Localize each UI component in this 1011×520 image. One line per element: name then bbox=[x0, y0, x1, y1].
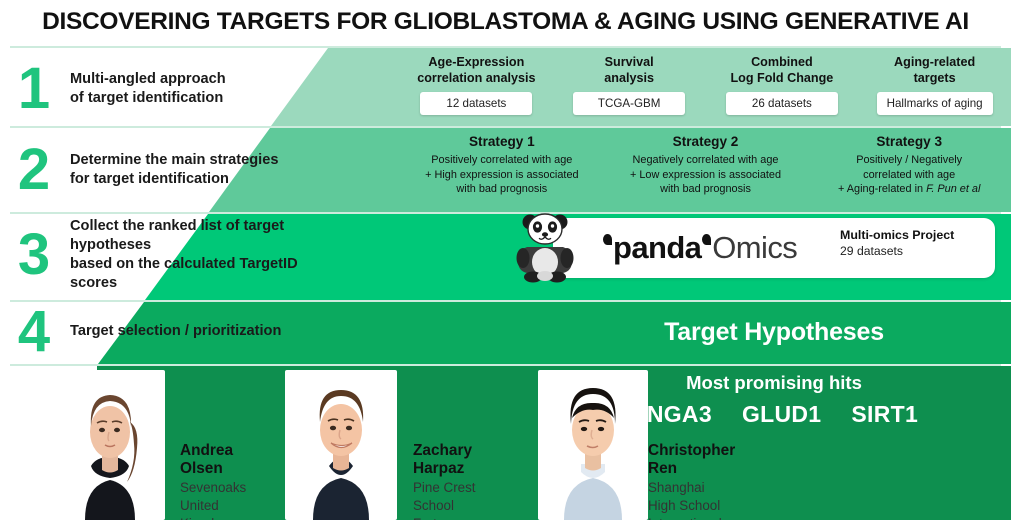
row-divider bbox=[10, 46, 1001, 48]
person-info: Andrea Olsen Sevenoaks United Kingdom bbox=[180, 442, 246, 520]
step-text-line-1: Collect the ranked list of target hypoth… bbox=[70, 217, 340, 256]
strategy-title: Strategy 3 bbox=[876, 134, 942, 149]
panda-icon bbox=[506, 206, 584, 284]
strategy-line-2: + Low expression is associated bbox=[630, 168, 781, 183]
step-number: 4 bbox=[0, 303, 66, 361]
people-row: Andrea Olsen Sevenoaks United Kingdom bbox=[0, 366, 1011, 520]
analysis-heading: Age-Expression correlation analysis bbox=[417, 54, 535, 86]
dataset-chip[interactable]: Hallmarks of aging bbox=[877, 92, 993, 115]
analysis-column-aging-related: Aging-related targets Hallmarks of aging bbox=[858, 52, 1011, 124]
analysis-heading-line-1: Combined bbox=[730, 54, 833, 70]
strategy-title: Strategy 2 bbox=[673, 134, 739, 149]
person-info: Christopher Ren Shanghai High School Int… bbox=[648, 442, 735, 520]
analysis-column-log-fold-change: Combined Log Fold Change 26 datasets bbox=[706, 52, 859, 124]
analysis-heading-line-2: Log Fold Change bbox=[730, 70, 833, 86]
step-text-line-2: based on the calculated TargetID scores bbox=[70, 255, 340, 294]
step-item-2: 2 Determine the main strategies for targ… bbox=[0, 134, 340, 206]
strategy-body: Positively correlated with age + High ex… bbox=[425, 153, 578, 197]
step-number: 1 bbox=[0, 60, 66, 118]
infographic-poster: DISCOVERING TARGETS FOR GLIOBLASTOMA & A… bbox=[0, 0, 1011, 520]
person-location: United Kingdom bbox=[180, 497, 246, 520]
project-title: Multi-omics Project bbox=[840, 228, 990, 244]
analysis-column-age-expression: Age-Expression correlation analysis 12 d… bbox=[400, 52, 553, 124]
multi-omics-project-info: Multi-omics Project 29 datasets bbox=[840, 228, 990, 259]
analysis-heading-line-2: analysis bbox=[604, 70, 654, 86]
strategy-line-3-citation: F. Pun et al bbox=[926, 183, 980, 195]
pandaomics-wordmark: pandaOmics bbox=[602, 228, 797, 268]
step-text-line-1: Target selection / prioritization bbox=[70, 322, 281, 341]
analysis-heading-line-2: correlation analysis bbox=[417, 70, 535, 86]
person-school: Pine Crest School bbox=[413, 479, 480, 515]
apostrophe-mark-left bbox=[603, 234, 612, 245]
step-number: 3 bbox=[0, 226, 66, 284]
analysis-heading-line-1: Survival bbox=[604, 54, 654, 70]
analysis-heading: Combined Log Fold Change bbox=[730, 54, 833, 86]
person-name: Zachary Harpaz bbox=[413, 442, 480, 479]
dataset-chip[interactable]: TCGA-GBM bbox=[573, 92, 685, 115]
strategy-line-1: Positively correlated with age bbox=[425, 153, 578, 168]
analysis-column-survival: Survival analysis TCGA-GBM bbox=[553, 52, 706, 124]
strategy-line-3-text: + Aging-related in bbox=[838, 183, 926, 195]
analysis-heading-line-2: targets bbox=[894, 70, 975, 86]
strategy-line-3: + Aging-related in F. Pun et al bbox=[838, 182, 980, 197]
strategy-1: Strategy 1 Positively correlated with ag… bbox=[400, 130, 604, 210]
avatar bbox=[538, 370, 648, 520]
strategy-line-3: with bad prognosis bbox=[630, 182, 781, 197]
brand-panda: panda bbox=[613, 230, 701, 266]
strategy-line-2: correlated with age bbox=[838, 168, 980, 183]
brand-omics: Omics bbox=[712, 230, 797, 266]
dataset-chip[interactable]: 12 datasets bbox=[420, 92, 532, 115]
avatar bbox=[285, 370, 397, 520]
analysis-columns: Age-Expression correlation analysis 12 d… bbox=[400, 52, 1011, 124]
avatar bbox=[55, 370, 165, 520]
person-info: Zachary Harpaz Pine Crest School Fort La… bbox=[413, 442, 480, 520]
strategy-line-3-text: with bad prognosis bbox=[456, 183, 547, 195]
step-text-line-2: for target identification bbox=[70, 170, 278, 189]
person-location: International Division bbox=[648, 515, 735, 520]
analysis-heading: Survival analysis bbox=[604, 54, 654, 86]
step-text: Determine the main strategies for target… bbox=[66, 151, 278, 190]
dataset-chip[interactable]: 26 datasets bbox=[726, 92, 838, 115]
strategy-line-2: + High expression is associated bbox=[425, 168, 578, 183]
person-name: Andrea Olsen bbox=[180, 442, 246, 479]
person-name: Christopher Ren bbox=[648, 442, 735, 479]
analysis-heading-line-1: Age-Expression bbox=[417, 54, 535, 70]
strategy-2: Strategy 2 Negatively correlated with ag… bbox=[604, 130, 808, 210]
analysis-heading-line-1: Aging-related bbox=[894, 54, 975, 70]
strategy-line-1: Positively / Negatively bbox=[838, 153, 980, 168]
target-hypotheses-heading: Target Hypotheses bbox=[553, 302, 995, 362]
strategy-columns: Strategy 1 Positively correlated with ag… bbox=[400, 130, 1011, 210]
strategy-line-3: with bad prognosis bbox=[425, 182, 578, 197]
person-school: Shanghai High School bbox=[648, 479, 735, 515]
step-item-4: 4 Target selection / prioritization bbox=[0, 304, 340, 360]
step-number: 2 bbox=[0, 141, 66, 199]
strategy-body: Negatively correlated with age + Low exp… bbox=[630, 153, 781, 197]
strategy-body: Positively / Negatively correlated with … bbox=[838, 153, 980, 197]
step-item-3: 3 Collect the ranked list of target hypo… bbox=[0, 216, 340, 294]
step-text-line-2: of target identification bbox=[70, 89, 226, 108]
apostrophe-mark-right bbox=[702, 234, 711, 245]
strategy-line-3-text: with bad prognosis bbox=[660, 183, 751, 195]
page-title: DISCOVERING TARGETS FOR GLIOBLASTOMA & A… bbox=[0, 0, 1011, 44]
step-text: Target selection / prioritization bbox=[66, 322, 281, 341]
step-text-line-1: Multi-angled approach bbox=[70, 70, 226, 89]
step-item-1: 1 Multi-angled approach of target identi… bbox=[0, 56, 340, 122]
step-text-line-1: Determine the main strategies bbox=[70, 151, 278, 170]
step-text: Multi-angled approach of target identifi… bbox=[66, 70, 226, 109]
row-divider bbox=[10, 126, 1001, 128]
person-location: Fort Lauderdale bbox=[413, 515, 480, 520]
person-school: Sevenoaks bbox=[180, 479, 246, 497]
strategy-title: Strategy 1 bbox=[469, 134, 535, 149]
project-dataset-count: 29 datasets bbox=[840, 244, 990, 260]
analysis-heading: Aging-related targets bbox=[894, 54, 975, 86]
strategy-line-1: Negatively correlated with age bbox=[630, 153, 781, 168]
strategy-3: Strategy 3 Positively / Negatively corre… bbox=[807, 130, 1011, 210]
step-text: Collect the ranked list of target hypoth… bbox=[66, 217, 340, 294]
